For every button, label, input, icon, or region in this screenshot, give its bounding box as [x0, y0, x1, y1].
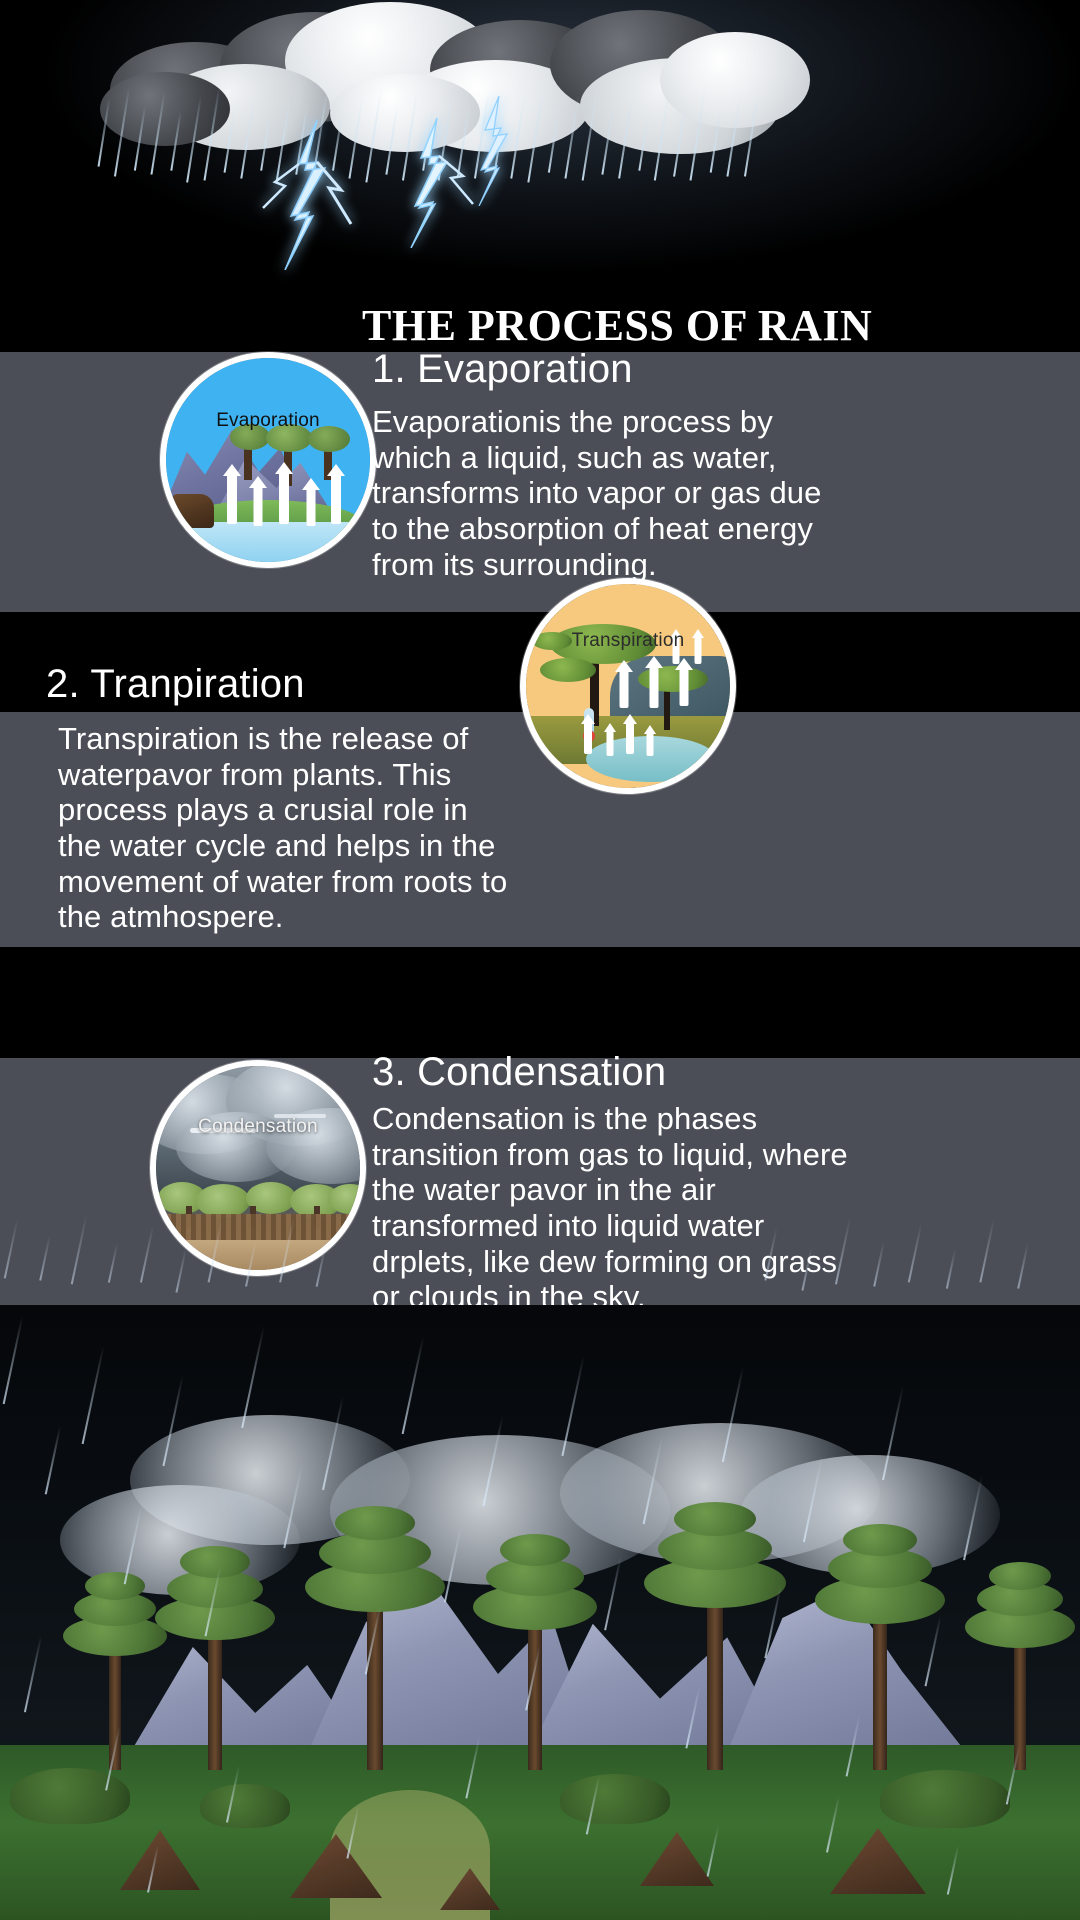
section-3-body: Condensation is the phases transition fr…: [372, 1101, 872, 1315]
tree: [810, 1515, 950, 1770]
bush: [10, 1768, 130, 1824]
evaporation-circle-label: Evaporation: [166, 410, 370, 432]
section-2-heading: 2. Tranpiration: [46, 662, 516, 707]
section-1-body: Evaporationis the process by which a liq…: [372, 404, 842, 582]
tree: [640, 1485, 790, 1770]
lightning-bolt-icon: [255, 120, 375, 270]
tree: [960, 1550, 1080, 1770]
rainy-forest-illustration: [0, 1305, 1080, 1920]
bush: [560, 1774, 670, 1824]
infographic-page: THE PROCESS OF RAIN: [0, 0, 1080, 1920]
section-1-heading: 1. Evaporation: [372, 347, 842, 392]
condensation-illustration: Condensation: [150, 1060, 366, 1276]
evaporation-illustration: Evaporation: [160, 352, 376, 568]
tree: [300, 1490, 450, 1770]
lightning-bolt-icon: [455, 96, 545, 206]
condensation-circle-label: Condensation: [156, 1116, 360, 1138]
section-2-body: Transpiration is the release of waterpav…: [46, 721, 516, 935]
transpiration-circle-label: Transpiration: [526, 630, 730, 652]
section-condensation: 3. Condensation Condensation is the phas…: [372, 1050, 872, 1315]
section-transpiration: 2. Tranpiration Transpiration is the rel…: [46, 662, 516, 935]
bush: [880, 1770, 1010, 1828]
section-3-heading: 3. Condensation: [372, 1050, 872, 1095]
storm-header-illustration: [0, 0, 1080, 330]
tree: [470, 1520, 600, 1770]
page-title: THE PROCESS OF RAIN: [362, 300, 872, 351]
transpiration-illustration: Transpiration: [520, 578, 736, 794]
bush: [200, 1784, 290, 1828]
tree: [60, 1560, 170, 1770]
section-evaporation: 1. Evaporation Evaporationis the process…: [372, 347, 842, 582]
